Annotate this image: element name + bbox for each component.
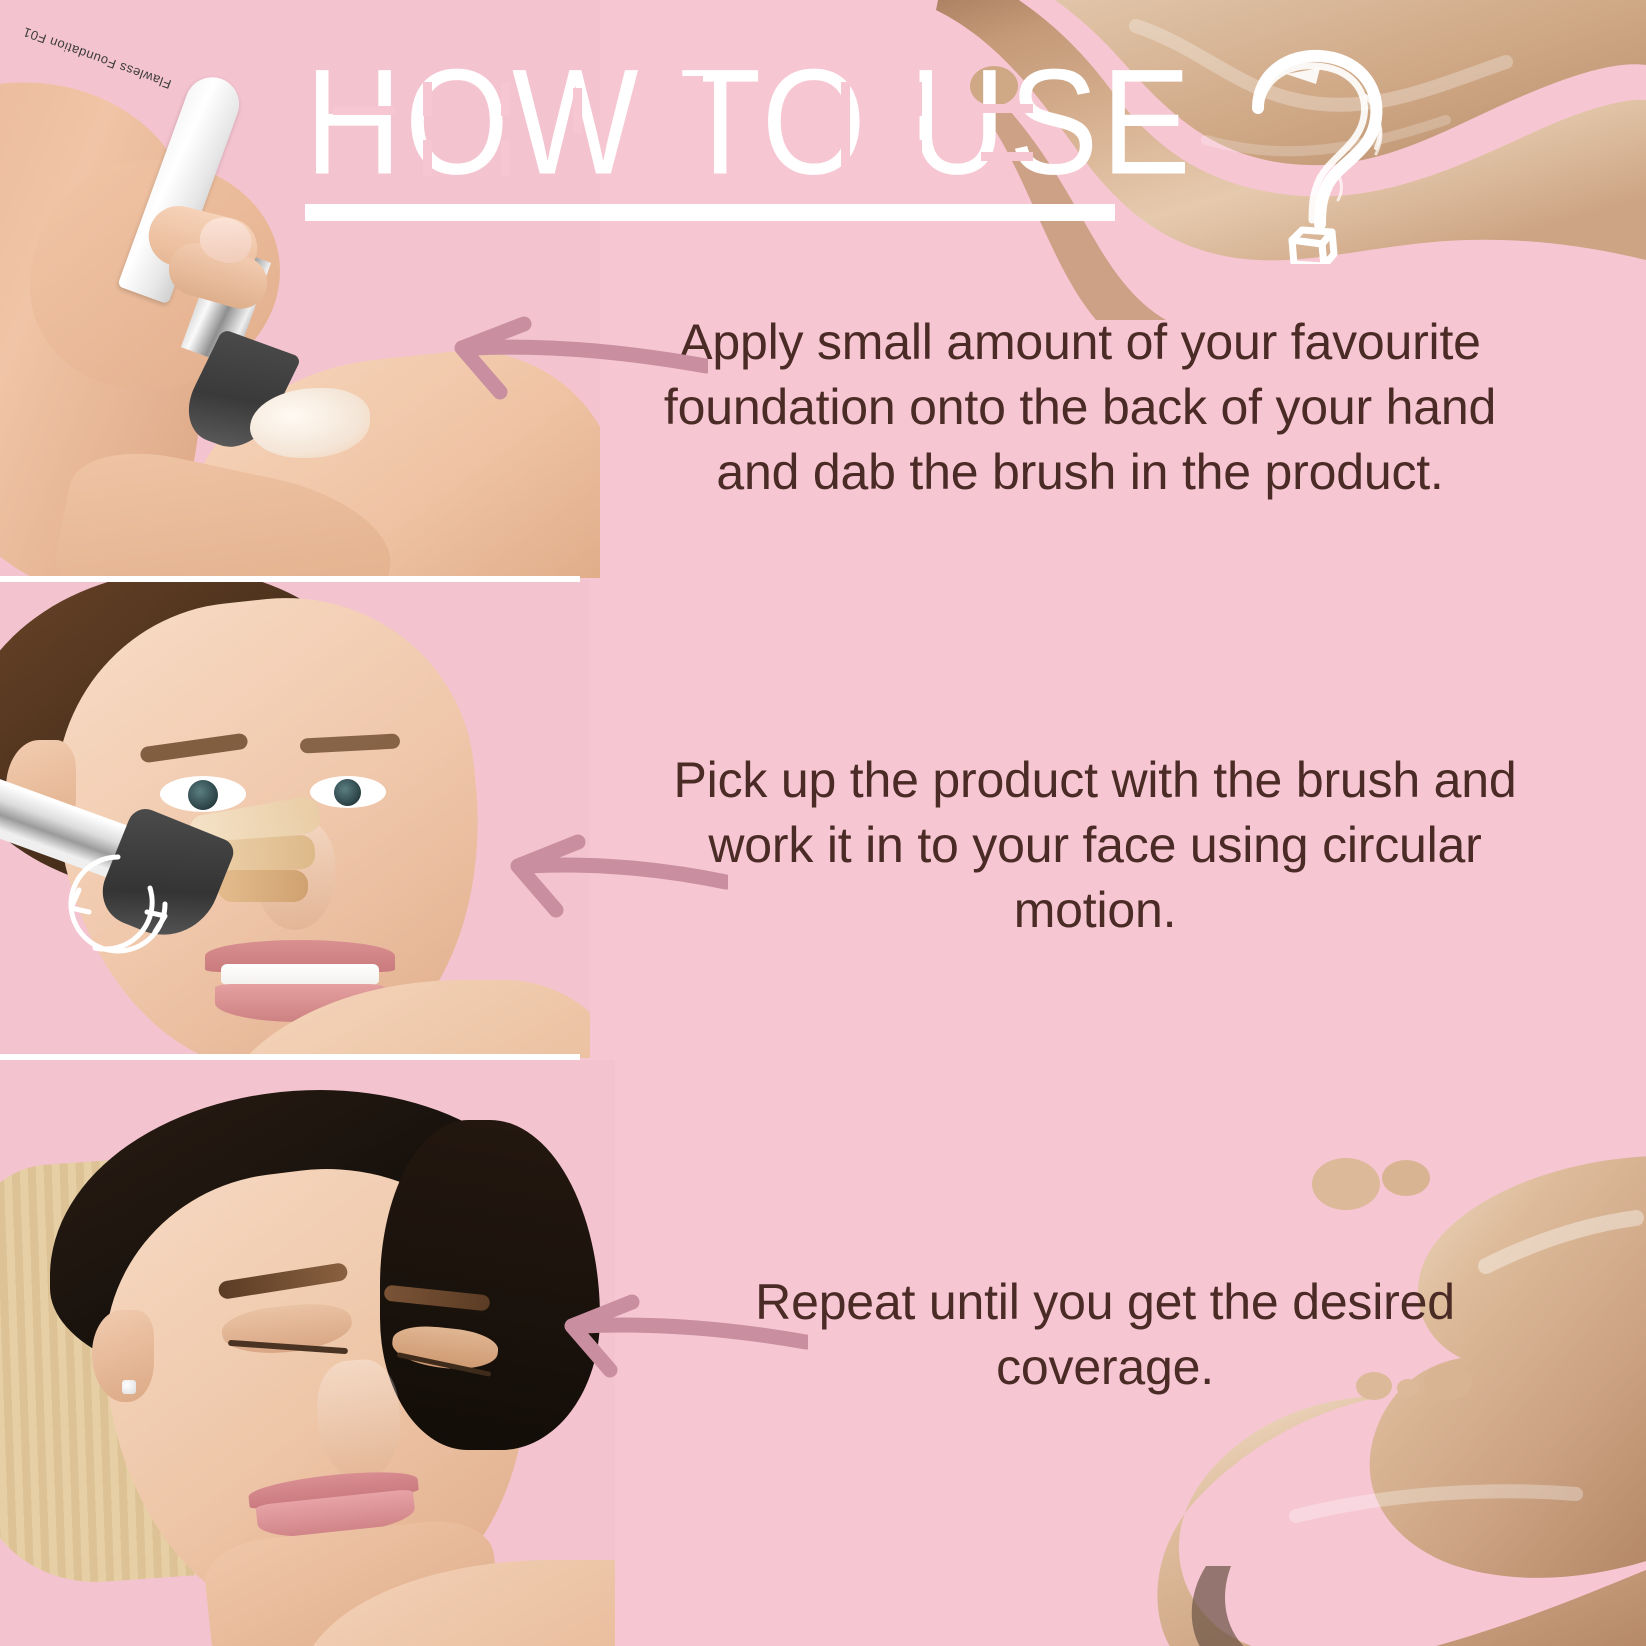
step-2-photo	[0, 580, 590, 1058]
left-arrow-icon	[548, 1278, 808, 1388]
earring	[122, 1380, 136, 1394]
eye	[310, 776, 386, 808]
photo-divider	[0, 576, 580, 582]
step-2-text: Pick up the product with the brush and w…	[660, 748, 1530, 943]
page-title: HOW TO USE	[305, 48, 1125, 198]
page-title-block: HOW TO USE	[305, 48, 1125, 221]
title-underline	[305, 204, 1115, 221]
circular-motion-icon	[55, 838, 185, 968]
step-1-text: Apply small amount of your favourite fou…	[640, 310, 1520, 505]
question-mark-icon	[1216, 44, 1416, 264]
step-3-text: Repeat until you get the desired coverag…	[690, 1270, 1520, 1400]
foundation-swatch	[218, 870, 308, 902]
photo-divider	[0, 1054, 580, 1060]
poster-canvas: Flawless Foundation F01	[0, 0, 1646, 1646]
step-3-photo	[0, 1060, 615, 1646]
left-arrow-icon	[438, 300, 708, 410]
eye	[160, 776, 246, 812]
left-arrow-icon	[498, 820, 728, 930]
